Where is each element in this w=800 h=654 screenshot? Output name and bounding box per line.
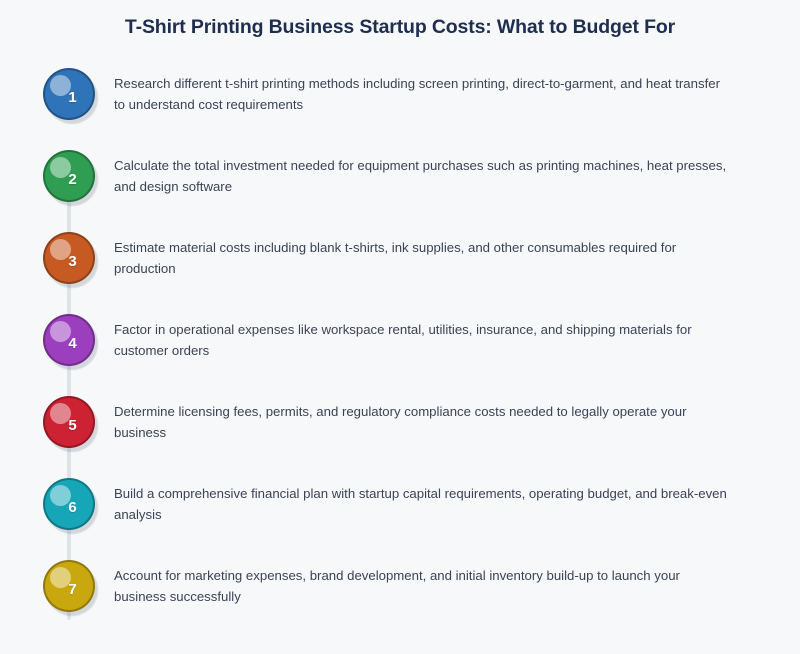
list-item: 5 Determine licensing fees, permits, and… [0,390,800,472]
step-number: 6 [43,478,95,530]
step-description: Determine licensing fees, permits, and r… [114,401,732,443]
step-description: Build a comprehensive financial plan wit… [114,483,732,525]
step-marker-7[interactable]: 7 [43,560,95,612]
infographic-container: T-Shirt Printing Business Startup Costs:… [0,0,800,654]
step-number: 5 [43,396,95,448]
list-item: 7 Account for marketing expenses, brand … [0,554,800,636]
steps-list: 1 Research different t-shirt printing me… [0,62,800,636]
step-description: Estimate material costs including blank … [114,237,732,279]
step-marker-1[interactable]: 1 [43,68,95,120]
page-title: T-Shirt Printing Business Startup Costs:… [0,16,800,39]
step-marker-6[interactable]: 6 [43,478,95,530]
list-item: 3 Estimate material costs including blan… [0,226,800,308]
step-marker-3[interactable]: 3 [43,232,95,284]
step-number: 4 [43,314,95,366]
list-item: 4 Factor in operational expenses like wo… [0,308,800,390]
list-item: 6 Build a comprehensive financial plan w… [0,472,800,554]
step-marker-4[interactable]: 4 [43,314,95,366]
step-number: 2 [43,150,95,202]
list-item: 1 Research different t-shirt printing me… [0,62,800,144]
step-description: Research different t-shirt printing meth… [114,73,732,115]
step-description: Calculate the total investment needed fo… [114,155,732,197]
step-description: Factor in operational expenses like work… [114,319,732,361]
step-number: 3 [43,232,95,284]
list-item: 2 Calculate the total investment needed … [0,144,800,226]
step-number: 1 [43,68,95,120]
step-marker-2[interactable]: 2 [43,150,95,202]
step-description: Account for marketing expenses, brand de… [114,565,732,607]
step-marker-5[interactable]: 5 [43,396,95,448]
step-number: 7 [43,560,95,612]
